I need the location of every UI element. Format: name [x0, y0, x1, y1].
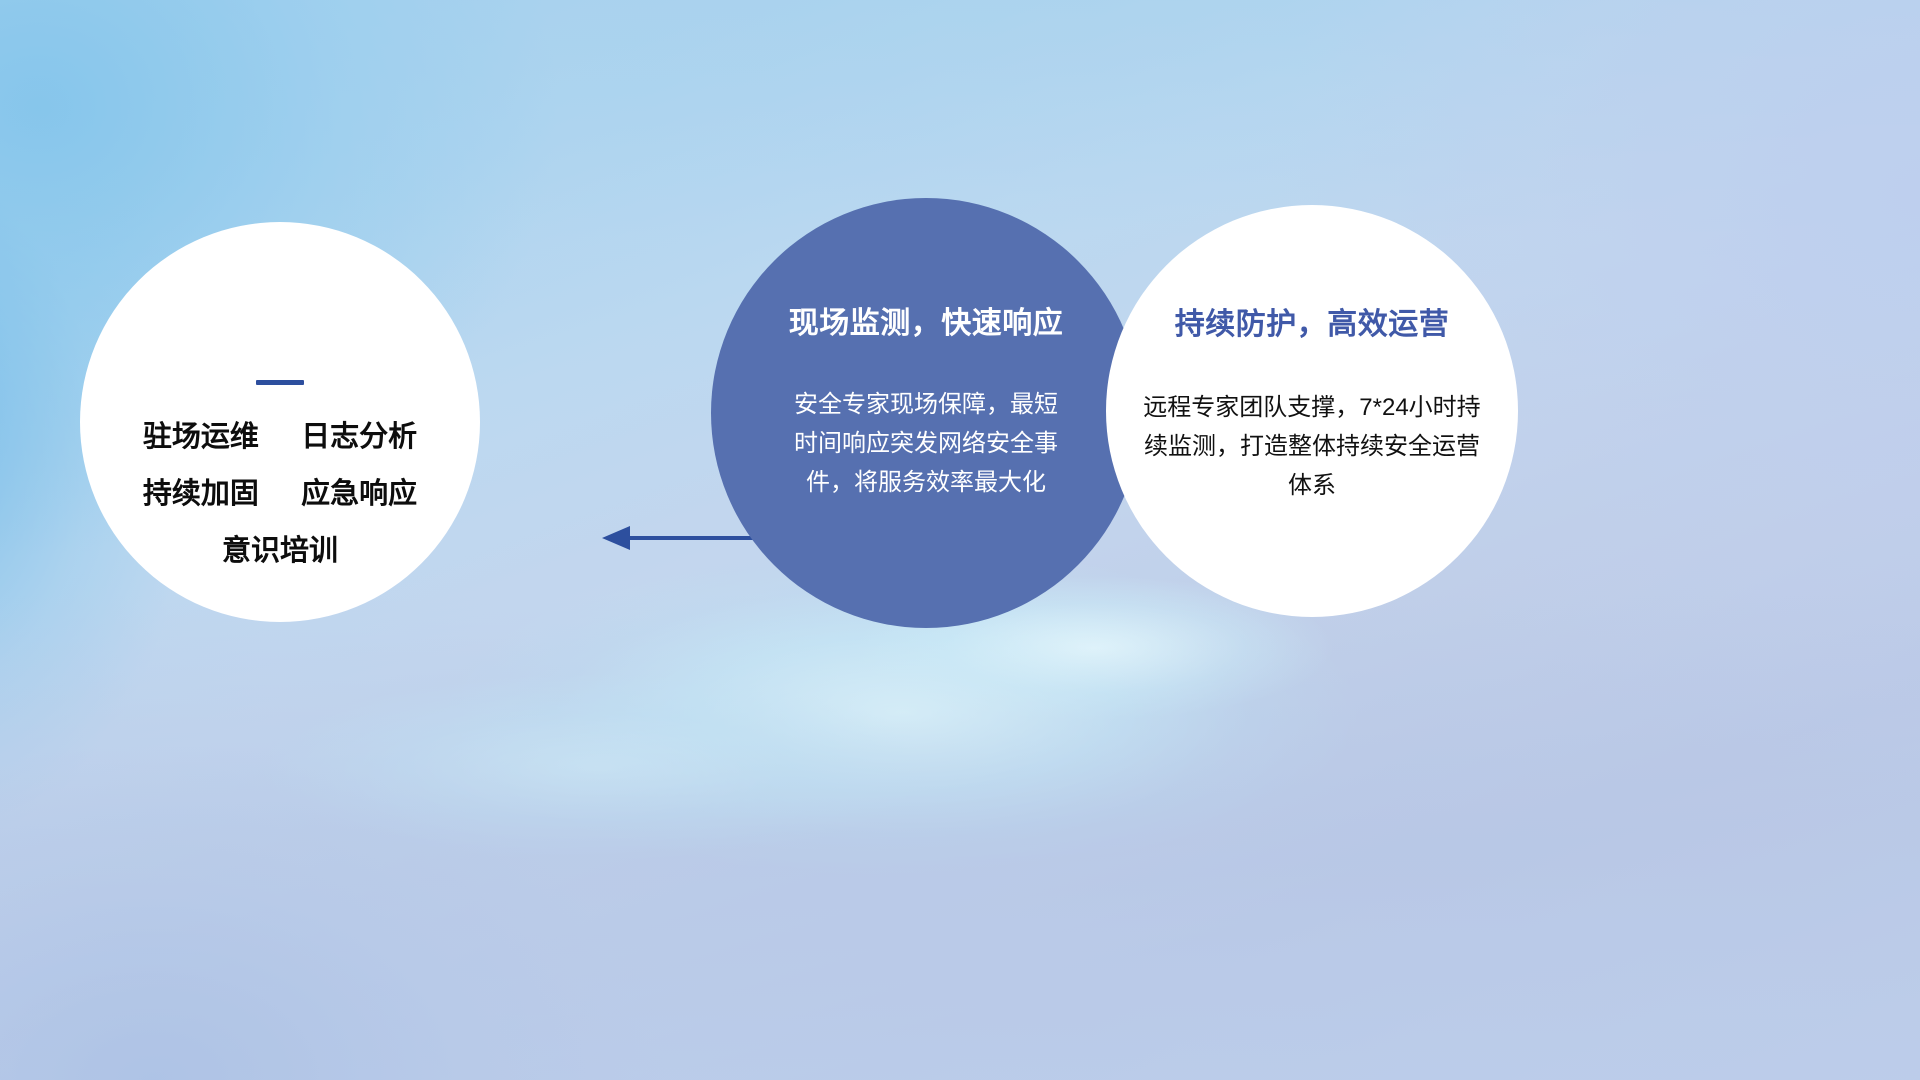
capability-circle-middle: 现场监测，快速响应 安全专家现场保障，最短时间响应突发网络安全事件，将服务效率最…: [711, 198, 1141, 628]
circle-title: 持续防护，高效运营: [1175, 299, 1450, 343]
capability-circle-left: 驻场运维 日志分析 持续加固 应急响应 意识培训: [80, 222, 480, 622]
list-item: 驻场运维 日志分析: [143, 423, 417, 452]
capability-label: 意识培训: [222, 535, 338, 567]
list-item: 持续加固 应急响应: [143, 480, 417, 509]
circle-body: 远程专家团队支撑，7*24小时持续监测，打造整体持续安全运营体系: [1136, 389, 1488, 506]
capability-label: 持续加固: [143, 478, 259, 510]
capability-label: 日志分析: [301, 421, 417, 453]
list-item: 意识培训: [143, 537, 417, 566]
capability-circle-right: 持续防护，高效运营 远程专家团队支撑，7*24小时持续监测，打造整体持续安全运营…: [1106, 205, 1518, 617]
capability-list: 驻场运维 日志分析 持续加固 应急响应 意识培训: [143, 423, 417, 566]
divider-dash-icon: [256, 380, 304, 385]
circle-title: 现场监测，快速响应: [789, 298, 1064, 342]
arrowhead-icon: [602, 526, 630, 550]
slide-canvas: 驻场运维 日志分析 持续加固 应急响应 意识培训 现场监测，快速响应 安全专家现…: [0, 0, 1920, 1080]
circle-body: 安全专家现场保障，最短时间响应突发网络安全事件，将服务效率最大化: [790, 386, 1062, 503]
capability-label: 应急响应: [301, 478, 417, 510]
capability-label: 驻场运维: [143, 421, 259, 453]
